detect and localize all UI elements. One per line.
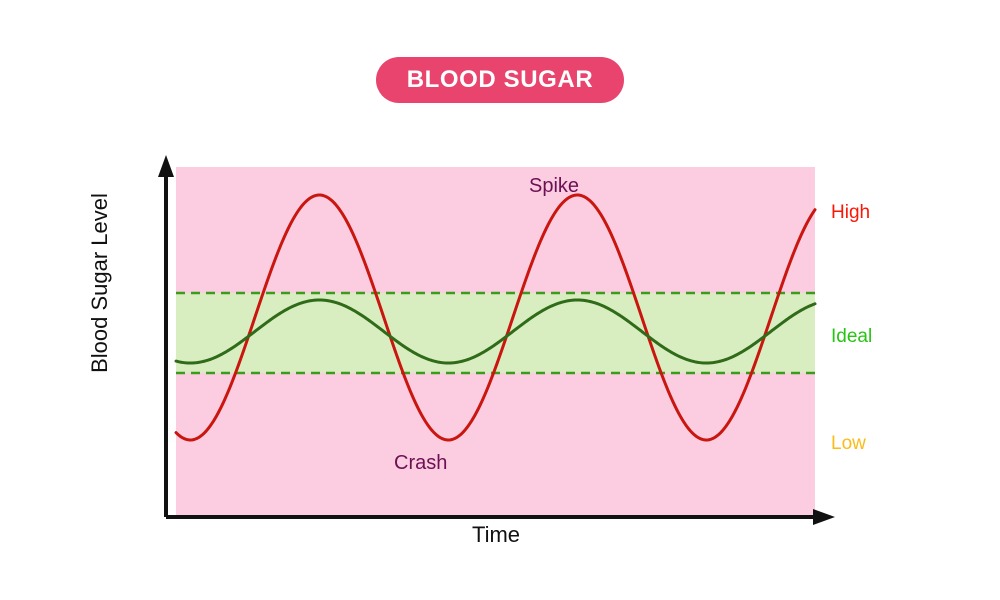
chart-plot-svg xyxy=(0,0,1000,600)
zone-label-low: Low xyxy=(831,433,866,455)
annotation-spike: Spike xyxy=(529,175,579,198)
zone-label-ideal: Ideal xyxy=(831,326,872,348)
y-axis-arrowhead xyxy=(158,155,174,177)
zone-label-high: High xyxy=(831,202,870,224)
annotation-crash: Crash xyxy=(394,452,447,475)
chart-canvas: BLOOD SUGAR Blood Sugar Level Time High … xyxy=(0,0,1000,600)
y-axis-title: Blood Sugar Level xyxy=(87,163,113,403)
x-axis-arrowhead xyxy=(813,509,835,525)
x-axis-title: Time xyxy=(396,522,596,548)
